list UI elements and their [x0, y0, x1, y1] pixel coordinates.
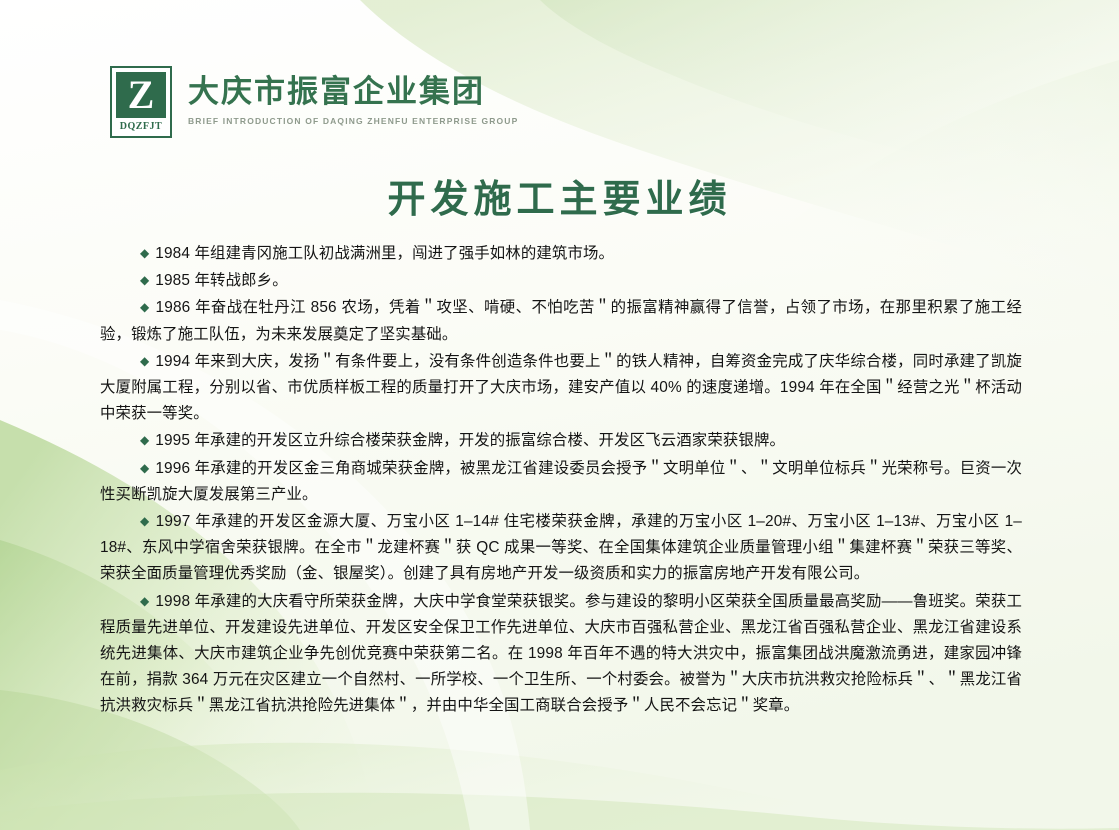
diamond-bullet-icon: ◆: [140, 461, 149, 475]
company-logo: Z DQZFJT: [110, 66, 172, 138]
diamond-bullet-icon: ◆: [140, 246, 149, 260]
paragraph: ◆1997 年承建的开发区金源大厦、万宝小区 1–14# 住宅楼荣获金牌，承建的…: [100, 508, 1022, 588]
brand-text-block: 大庆市振富企业集团 BRIEF INTRODUCTION OF DAQING Z…: [188, 72, 518, 126]
achievements-body: ◆1984 年组建青冈施工队初战满洲里，闯进了强手如林的建筑市场。 ◆1985 …: [100, 240, 1022, 720]
logo-abbreviation: DQZFJT: [120, 121, 162, 132]
paragraph-text: 1984 年组建青冈施工队初战满洲里，闯进了强手如林的建筑市场。: [155, 245, 614, 262]
diamond-bullet-icon: ◆: [140, 273, 149, 287]
paragraph-text: 1985 年转战郎乡。: [155, 272, 288, 289]
company-name-en: BRIEF INTRODUCTION OF DAQING ZHENFU ENTE…: [188, 116, 518, 126]
diamond-bullet-icon: ◆: [140, 514, 150, 528]
paragraph: ◆1994 年来到大庆，发扬＂有条件要上，没有条件创造条件也要上＂的铁人精神，自…: [100, 348, 1022, 428]
diamond-bullet-icon: ◆: [140, 594, 149, 608]
logo-badge: Z: [116, 72, 166, 118]
paragraph-text: 1995 年承建的开发区立升综合楼荣获金牌，开发的振富综合楼、开发区飞云酒家荣获…: [155, 432, 785, 449]
logo-letter-z: Z: [128, 75, 155, 115]
paragraph-text: 1986 年奋战在牡丹江 856 农场，凭着＂攻坚、啃硬、不怕吃苦＂的振富精神赢…: [100, 299, 1022, 342]
paragraph: ◆1984 年组建青冈施工队初战满洲里，闯进了强手如林的建筑市场。: [100, 240, 1022, 267]
diamond-bullet-icon: ◆: [140, 433, 149, 447]
paragraph: ◆1998 年承建的大庆看守所荣获金牌，大庆中学食堂荣获银奖。参与建设的黎明小区…: [100, 588, 1022, 720]
company-name-cn: 大庆市振富企业集团: [188, 72, 518, 112]
brand-header: Z DQZFJT 大庆市振富企业集团 BRIEF INTRODUCTION OF…: [110, 66, 518, 138]
page-title: 开发施工主要业绩: [0, 168, 1119, 223]
paragraph: ◆1985 年转战郎乡。: [100, 267, 1022, 294]
paragraph: ◆1996 年承建的开发区金三角商城荣获金牌，被黑龙江省建设委员会授予＂文明单位…: [100, 455, 1022, 508]
diamond-bullet-icon: ◆: [140, 354, 149, 368]
paragraph: ◆1986 年奋战在牡丹江 856 农场，凭着＂攻坚、啃硬、不怕吃苦＂的振富精神…: [100, 294, 1022, 347]
diamond-bullet-icon: ◆: [140, 300, 150, 314]
paragraph-text: 1996 年承建的开发区金三角商城荣获金牌，被黑龙江省建设委员会授予＂文明单位＂…: [100, 460, 1022, 503]
paragraph-text: 1994 年来到大庆，发扬＂有条件要上，没有条件创造条件也要上＂的铁人精神，自筹…: [100, 353, 1022, 422]
paragraph-text: 1998 年承建的大庆看守所荣获金牌，大庆中学食堂荣获银奖。参与建设的黎明小区荣…: [100, 593, 1022, 715]
document-page: Z DQZFJT 大庆市振富企业集团 BRIEF INTRODUCTION OF…: [0, 0, 1119, 830]
paragraph: ◆1995 年承建的开发区立升综合楼荣获金牌，开发的振富综合楼、开发区飞云酒家荣…: [100, 427, 1022, 454]
paragraph-text: 1997 年承建的开发区金源大厦、万宝小区 1–14# 住宅楼荣获金牌，承建的万…: [100, 513, 1022, 582]
